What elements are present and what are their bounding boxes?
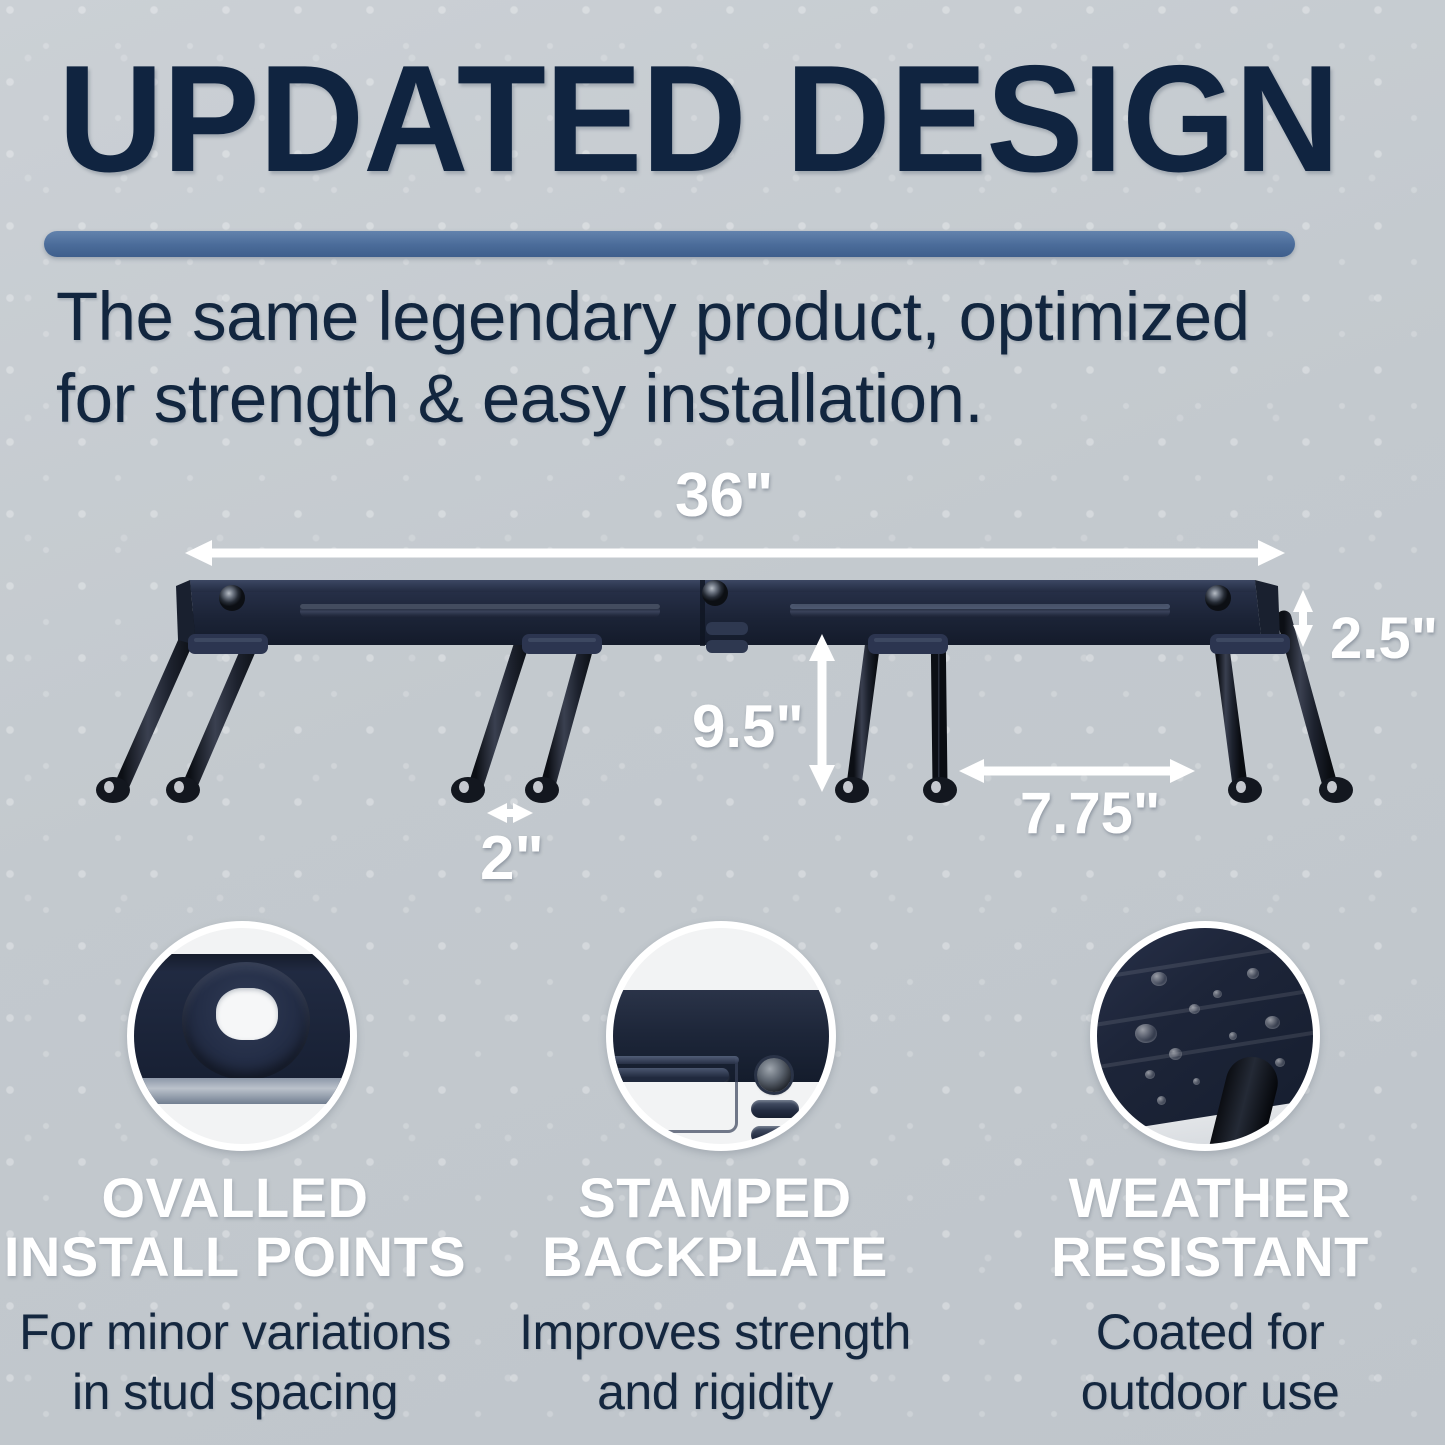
center-tab-2 [706,640,748,653]
feature-desc-1-line2: in stud spacing [0,1362,470,1422]
feature-desc-3-line2: outdoor use [975,1362,1445,1422]
feature-title-2: STAMPED BACKPLATE [480,1168,950,1286]
product-diagram: 36" 2.5" 9.5" 7.75" 2" [0,440,1445,900]
oval-hole-icon [216,988,278,1040]
feature-title-1: OVALLED INSTALL POINTS [0,1168,470,1286]
subtitle-line-1: The same legendary product, optimized [56,276,1376,358]
feature-desc-2-line2: and rigidity [480,1362,950,1422]
arrow-36-head-left [185,540,212,566]
water-droplet [1265,1016,1280,1029]
feature-desc-1: For minor variations in stud spacing [0,1302,470,1422]
feature-title-3-line2: RESISTANT [975,1227,1445,1286]
feature-title-3-line1: WEATHER [975,1168,1445,1227]
water-droplet [1135,1024,1157,1043]
water-droplet [1275,1058,1285,1067]
feature-desc-1-line1: For minor variations [0,1302,470,1362]
arrow-36-head-right [1258,540,1285,566]
water-droplet [1193,1078,1200,1085]
accent-divider-bar [44,231,1295,257]
water-droplet [1189,1004,1200,1014]
dimension-label-depth: 2.5" [1330,605,1438,672]
water-droplet [1247,968,1259,979]
arrow-775-head-right [1170,759,1195,783]
water-droplet [1169,1048,1182,1060]
coated-surface [1090,921,1320,1135]
water-droplet [1145,1070,1155,1079]
dimension-label-pair-spacing: 7.75" [1020,780,1160,847]
arrow-2-head-left [487,803,507,823]
stamp-tab-2 [751,1126,799,1144]
feature-caption-2: STAMPED BACKPLATE Improves strength and … [480,1168,950,1422]
feature-desc-3-line1: Coated for [975,1302,1445,1362]
plate-bottom-edge [127,1078,357,1104]
feature-image-stamped-backplate [606,921,836,1151]
feature-desc-2-line1: Improves strength [480,1302,950,1362]
page-title: UPDATED DESIGN [58,44,1335,194]
stamp-highlight [607,1056,739,1064]
feature-caption-1: OVALLED INSTALL POINTS For minor variati… [0,1168,470,1422]
water-droplet [1157,1096,1166,1105]
stamp-tab-1 [751,1100,799,1118]
backplate-section [606,990,836,1082]
feature-desc-3: Coated for outdoor use [975,1302,1445,1422]
feature-caption-3: WEATHER RESISTANT Coated for outdoor use [975,1168,1445,1422]
arrow-775-head-left [959,759,984,783]
subtitle-line-2: for strength & easy installation. [56,358,1376,440]
center-tab-1 [706,622,748,635]
stamp-groove [607,1068,729,1082]
feature-title-2-line2: BACKPLATE [480,1227,950,1286]
water-droplet [1151,972,1167,986]
water-droplet [1229,1032,1237,1040]
arrow-95-head-bottom [809,765,835,792]
feature-desc-2: Improves strength and rigidity [480,1302,950,1422]
dimension-label-hook-gap: 2" [480,823,544,894]
feature-title-2-line1: STAMPED [480,1168,950,1227]
page-subtitle: The same legendary product, optimized fo… [56,276,1376,440]
feature-image-weather-resistant [1090,921,1320,1151]
arrow-2-head-right [513,803,533,823]
feature-title-3: WEATHER RESISTANT [975,1168,1445,1286]
water-droplet [1213,990,1222,998]
arrow-25-head-top [1293,590,1313,612]
feature-title-1-line2: INSTALL POINTS [0,1227,470,1286]
hook-tips [96,777,1353,803]
feature-image-ovalled-install-points [127,921,357,1151]
dimension-label-hook-drop: 9.5" [692,692,804,761]
dimension-label-width: 36" [675,460,773,531]
feature-title-1-line1: OVALLED [0,1168,470,1227]
bolt-icon [757,1058,791,1092]
infographic-page: UPDATED DESIGN The same legendary produc… [0,0,1445,1445]
